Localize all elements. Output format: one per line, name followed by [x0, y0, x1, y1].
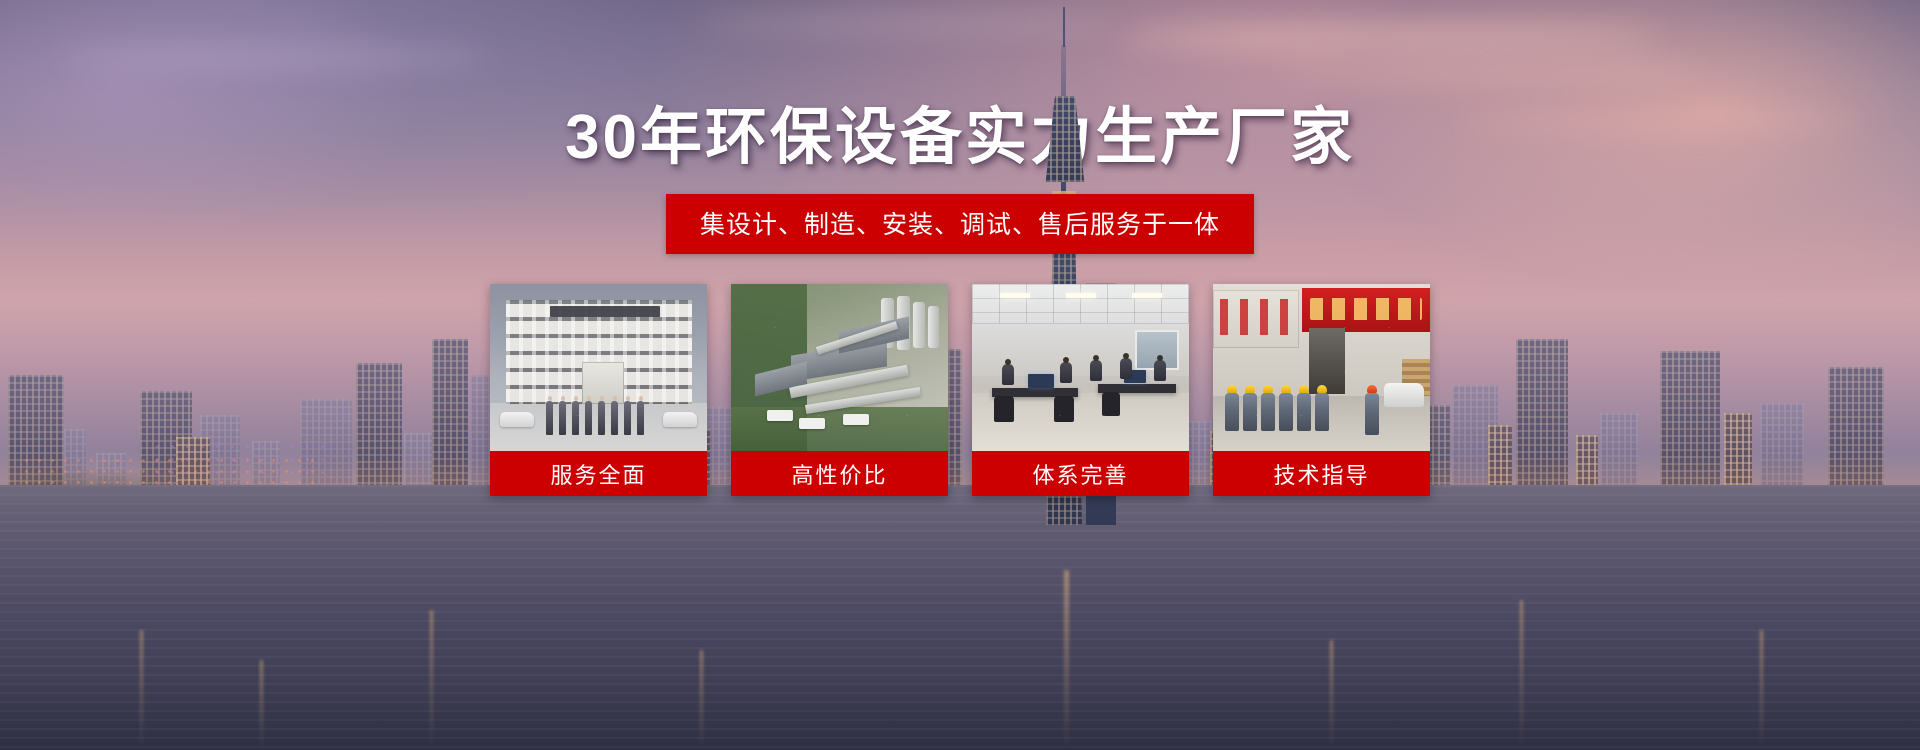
subtitle-banner: 集设计、制造、安装、调试、售后服务于一体 — [666, 194, 1254, 254]
feature-card-list: 服务全面 — [490, 284, 1430, 496]
card-photo-company-building — [490, 284, 707, 451]
card-caption: 服务全面 — [490, 451, 707, 496]
card-caption: 高性价比 — [731, 451, 948, 496]
card-caption: 体系完善 — [972, 451, 1189, 496]
card-caption: 技术指导 — [1213, 451, 1430, 496]
feature-card[interactable]: 体系完善 — [972, 284, 1189, 496]
feature-card[interactable]: 技术指导 — [1213, 284, 1430, 496]
page-title: 30年环保设备实力生产厂家 — [0, 104, 1920, 172]
feature-card[interactable]: 服务全面 — [490, 284, 707, 496]
card-photo-workshop-workers — [1213, 284, 1430, 451]
card-photo-aerial-plant — [731, 284, 948, 451]
hero-content: 30年环保设备实力生产厂家 集设计、制造、安装、调试、售后服务于一体 — [0, 0, 1920, 750]
hero-banner: 30年环保设备实力生产厂家 集设计、制造、安装、调试、售后服务于一体 — [0, 0, 1920, 750]
card-photo-office-team — [972, 284, 1189, 451]
feature-card[interactable]: 高性价比 — [731, 284, 948, 496]
